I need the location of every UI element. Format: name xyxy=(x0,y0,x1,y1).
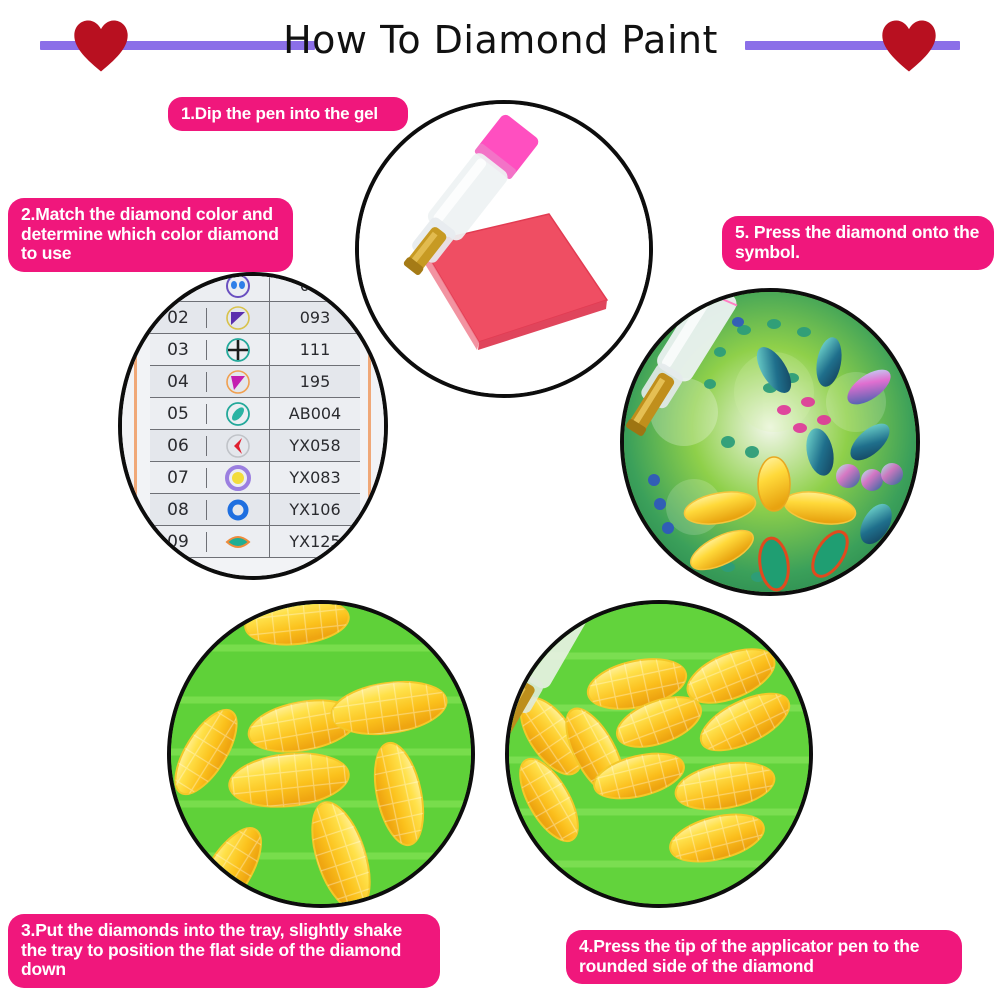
oval-teal-icon xyxy=(207,398,270,429)
step-1-label: 1.Dip the pen into the gel xyxy=(168,97,408,131)
header-banner: How To Diamond Paint xyxy=(0,0,1001,80)
paper-edge xyxy=(368,276,371,576)
row-code: YX106 xyxy=(270,500,360,519)
page-title: How To Diamond Paint xyxy=(0,18,1001,62)
table-row: 07 YX083 xyxy=(150,462,360,494)
leaf-teal-orange-icon xyxy=(207,526,270,557)
row-number: 07 xyxy=(150,468,207,488)
step-5-photo xyxy=(620,288,920,596)
row-number: 06 xyxy=(150,436,207,456)
row-number: 08 xyxy=(150,500,207,520)
arrow-left-red-icon xyxy=(207,430,270,461)
triangle-purple-icon xyxy=(207,302,270,333)
row-code: YX083 xyxy=(270,468,360,487)
table-row: 09 YX125 xyxy=(150,526,360,558)
table-row: 08 YX106 xyxy=(150,494,360,526)
table-row: 02 093 xyxy=(150,302,360,334)
dot-yellow-purple-ring-icon xyxy=(207,462,270,493)
table-row: 06 YX058 xyxy=(150,430,360,462)
paper-edge xyxy=(134,276,137,576)
row-code: AB004 xyxy=(270,404,360,423)
row-code: YX058 xyxy=(270,436,360,455)
row-code: 111 xyxy=(270,340,360,359)
row-code: 093 xyxy=(270,308,360,327)
diamond-being-placed xyxy=(758,457,790,511)
row-code: 195 xyxy=(270,372,360,391)
row-number: 05 xyxy=(150,404,207,424)
step-3-label: 3.Put the diamonds into the tray, slight… xyxy=(8,914,440,988)
table-row: 028 xyxy=(150,272,360,302)
symbol-legend-table: 028 02 093 03 111 04 195 05 xyxy=(150,272,360,558)
step-2-photo: 028 02 093 03 111 04 195 05 xyxy=(118,272,388,580)
row-code: 028 xyxy=(270,276,360,295)
triangle-magenta-icon xyxy=(207,366,270,397)
row-number: 04 xyxy=(150,372,207,392)
table-row: 03 111 xyxy=(150,334,360,366)
table-row: 04 195 xyxy=(150,366,360,398)
step-2-label: 2.Match the diamond color and determine … xyxy=(8,198,293,272)
step-4-label: 4.Press the tip of the applicator pen to… xyxy=(566,930,962,984)
step-4-photo xyxy=(505,600,813,908)
step-1-photo xyxy=(355,100,653,398)
eyes-blue-icon xyxy=(207,272,270,301)
ring-blue-icon xyxy=(207,494,270,525)
step-5-label: 5. Press the diamond onto the symbol. xyxy=(722,216,994,270)
plus-teal-icon xyxy=(207,334,270,365)
row-number: 09 xyxy=(150,532,207,552)
row-number: 03 xyxy=(150,340,207,360)
row-code: YX125 xyxy=(270,532,360,551)
row-number: 02 xyxy=(150,308,207,328)
step-3-photo xyxy=(167,600,475,908)
table-row: 05 AB004 xyxy=(150,398,360,430)
